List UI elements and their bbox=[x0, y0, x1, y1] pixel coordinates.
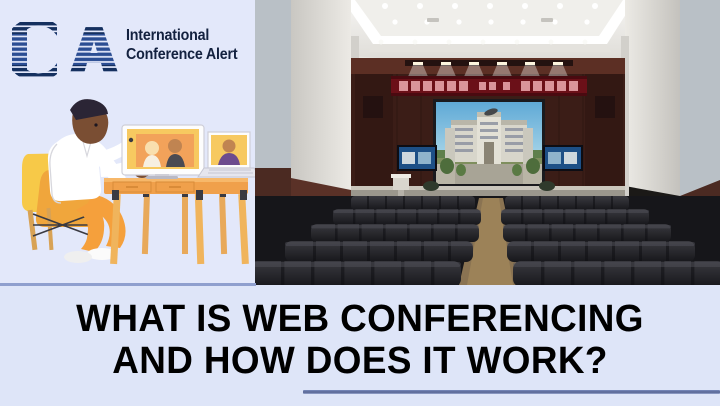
page-title: WHAT IS WEB CONFERENCING AND HOW DOES IT… bbox=[0, 298, 720, 382]
building-on-screen bbox=[436, 112, 542, 184]
brand-panel: International Conference Alert bbox=[0, 0, 255, 283]
media-row: International Conference Alert bbox=[0, 0, 720, 285]
conference-hall-photo bbox=[255, 0, 720, 285]
title-underline bbox=[303, 390, 720, 394]
title-line-1: WHAT IS WEB CONFERENCING bbox=[11, 298, 709, 340]
logo-line-2: Conference Alert bbox=[126, 45, 246, 64]
logo-wordmark: International Conference Alert bbox=[126, 26, 255, 64]
title-line-2: AND HOW DOES IT WORK? bbox=[11, 340, 709, 382]
desktop-monitor bbox=[122, 125, 204, 179]
side-monitor-left bbox=[397, 145, 437, 171]
thumbnail-graphic: International Conference Alert bbox=[0, 0, 720, 406]
led-banner bbox=[391, 76, 587, 96]
projection-screen bbox=[433, 99, 545, 187]
logo[interactable]: International Conference Alert bbox=[8, 22, 253, 82]
man-at-desk-video-call-illustration bbox=[0, 82, 255, 283]
logo-line-1: International bbox=[126, 26, 246, 45]
side-monitor-right bbox=[543, 145, 583, 171]
ica-logo-icon bbox=[12, 22, 120, 77]
title-block: WHAT IS WEB CONFERENCING AND HOW DOES IT… bbox=[0, 286, 720, 406]
